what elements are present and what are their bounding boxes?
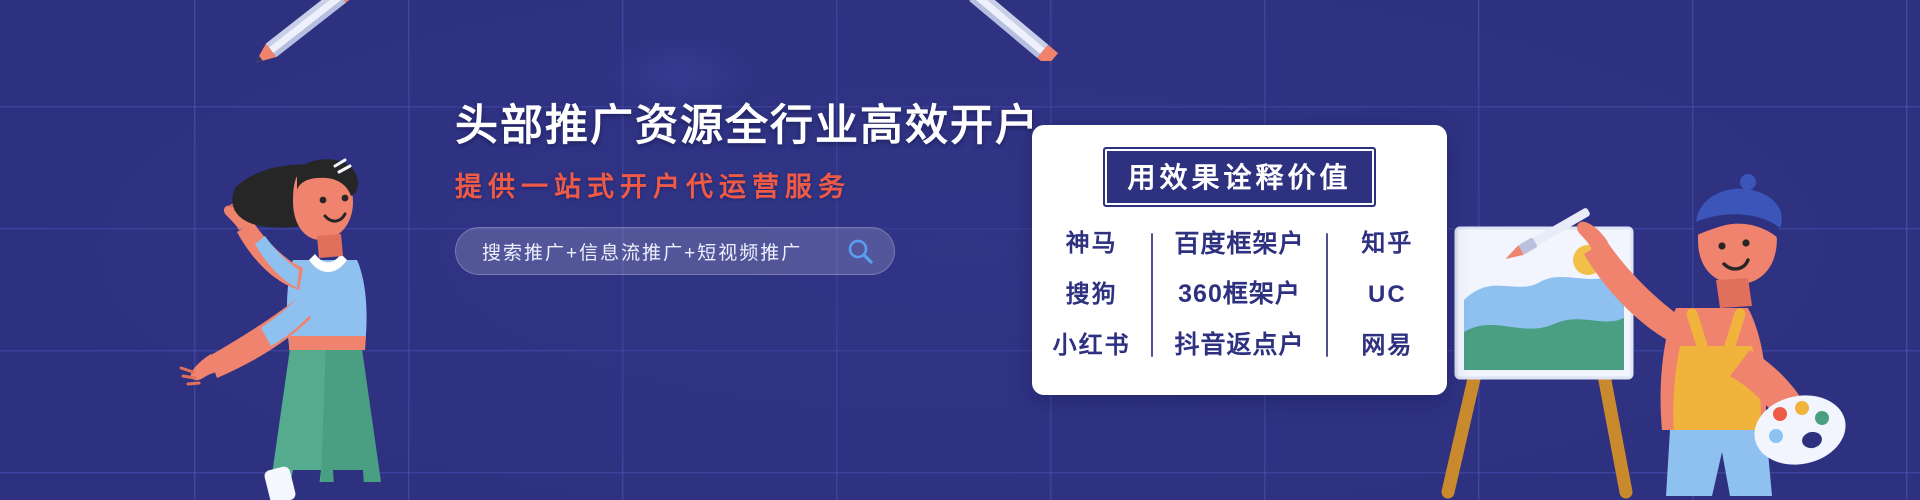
brand-column-2: 百度框架户 360框架户 抖音返点户 bbox=[1153, 231, 1326, 359]
woman-illustration bbox=[175, 110, 435, 500]
brand-item[interactable]: 搜狗 bbox=[1066, 282, 1118, 308]
hero-text-block: 头部推广资源全行业高效开户 提供一站式开户代运营服务 搜索推广+信息流推广+短视… bbox=[455, 105, 905, 275]
column-divider bbox=[1326, 233, 1328, 357]
brand-item[interactable]: 小红书 bbox=[1053, 333, 1131, 359]
promo-banner: 头部推广资源全行业高效开户 提供一站式开户代运营服务 搜索推广+信息流推广+短视… bbox=[0, 0, 1920, 500]
card-title: 用效果诠释价值 bbox=[1103, 147, 1375, 207]
brand-item[interactable]: 知乎 bbox=[1361, 231, 1413, 257]
page-title: 头部推广资源全行业高效开户 bbox=[455, 105, 905, 148]
painter-illustration bbox=[1430, 100, 1920, 500]
brand-column-1: 神马 搜狗 小红书 bbox=[1032, 231, 1151, 359]
brands-card: 用效果诠释价值 神马 搜狗 小红书 百度框架户 360框架户 抖音返点户 知乎 … bbox=[1032, 125, 1447, 395]
brand-item[interactable]: 抖音返点户 bbox=[1174, 332, 1304, 360]
column-divider bbox=[1151, 233, 1153, 357]
magnifier-icon[interactable] bbox=[846, 237, 874, 265]
pencil-right-icon bbox=[940, 0, 1070, 61]
search-input-value: 搜索推广+信息流推广+短视频推广 bbox=[482, 238, 802, 265]
page-subtitle: 提供一站式开户代运营服务 bbox=[455, 174, 905, 201]
search-input[interactable]: 搜索推广+信息流推广+短视频推广 bbox=[455, 227, 895, 275]
brand-grid: 神马 搜狗 小红书 百度框架户 360框架户 抖音返点户 知乎 UC 网易 bbox=[1032, 231, 1447, 359]
brand-column-3: 知乎 UC 网易 bbox=[1328, 231, 1447, 359]
brand-item[interactable]: 百度框架户 bbox=[1174, 231, 1304, 259]
brand-item[interactable]: 神马 bbox=[1066, 231, 1118, 257]
brand-item[interactable]: 360框架户 bbox=[1178, 281, 1301, 309]
brand-item[interactable]: 网易 bbox=[1361, 333, 1413, 359]
pencil-left-icon bbox=[240, 0, 370, 65]
brand-item[interactable]: UC bbox=[1368, 282, 1407, 308]
